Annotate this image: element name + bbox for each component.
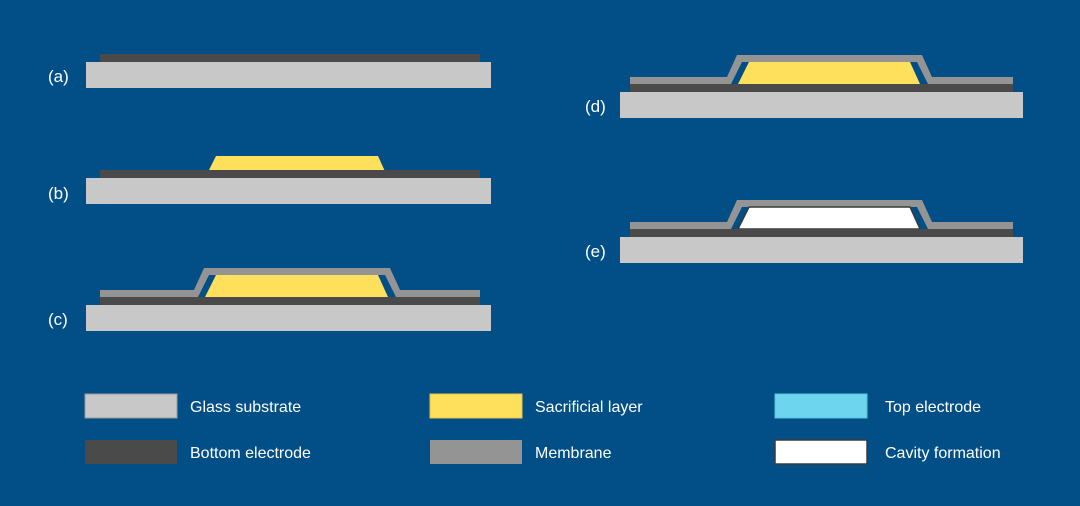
panel-d-label: (d) <box>585 97 606 116</box>
panel-e-glass-substrate <box>620 237 1023 263</box>
legend-label-membrane: Membrane <box>535 445 612 462</box>
legend-label-cavity-formation: Cavity formation <box>885 445 1001 462</box>
legend-label-sacrificial-layer: Sacrificial layer <box>535 399 643 416</box>
panel-a-label: (a) <box>48 67 69 86</box>
legend-swatch-cavity-formation <box>775 440 867 464</box>
panel-b-label: (b) <box>48 184 69 203</box>
panel-a-bottom-electrode <box>100 54 480 62</box>
panel-a-glass-substrate <box>86 62 491 88</box>
legend-swatch-membrane <box>430 440 522 464</box>
process-flow-diagram: (a) (b) (c) (d) <box>0 0 1080 506</box>
legend-swatch-glass-substrate <box>85 394 177 418</box>
panel-d-glass-substrate <box>620 92 1023 118</box>
panel-e-bottom-electrode <box>630 229 1013 237</box>
panel-c-glass-substrate <box>86 305 491 331</box>
panel-d-sacrificial-layer <box>738 62 920 84</box>
panel-d-bottom-electrode <box>630 84 1013 92</box>
legend-swatch-sacrificial-layer <box>430 394 522 418</box>
panel-b-bottom-electrode <box>100 170 480 178</box>
panel-e-label: (e) <box>585 242 606 261</box>
legend-label-bottom-electrode: Bottom electrode <box>190 445 311 462</box>
legend-label-glass-substrate: Glass substrate <box>190 399 301 416</box>
legend-label-top-electrode: Top electrode <box>885 399 981 416</box>
panel-a: (a) <box>48 54 491 88</box>
panel-b-glass-substrate <box>86 178 491 204</box>
panel-c-bottom-electrode <box>100 297 480 305</box>
process-flow-figure: (a) (b) (c) (d) <box>0 0 1080 506</box>
panel-c-sacrificial-layer <box>205 275 388 297</box>
legend-swatch-bottom-electrode <box>85 440 177 464</box>
panel-c-label: (c) <box>48 310 68 329</box>
panel-e-cavity <box>738 207 920 229</box>
legend-swatch-top-electrode <box>775 394 867 418</box>
